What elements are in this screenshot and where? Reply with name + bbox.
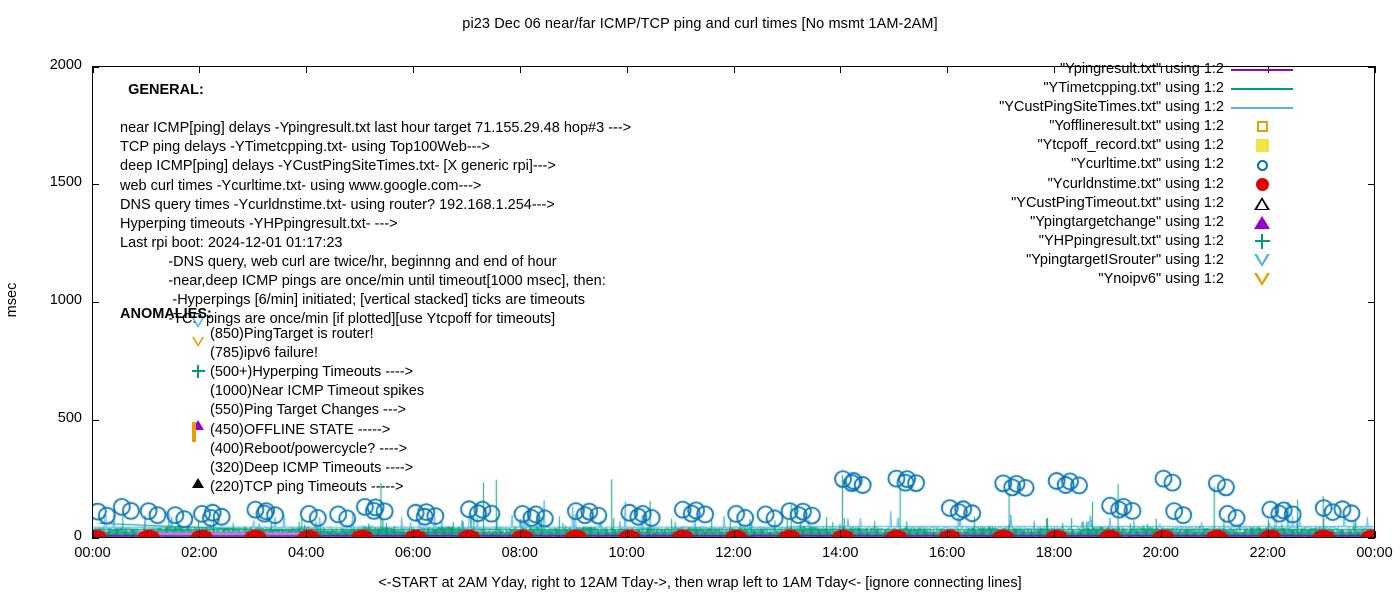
legend-label: "YCustPingSiteTimes.txt" using 1:2 <box>999 98 1224 117</box>
x-tick-mark <box>306 531 307 538</box>
legend-item[interactable]: "Ytcpoff_record.txt" using 1:2 <box>940 136 1300 155</box>
legend: "Ypingresult.txt" using 1:2"YTimetcpping… <box>940 60 1300 289</box>
anomaly-label: (1000)Near ICMP Timeout spikes <box>210 382 424 401</box>
x-tick-label: 12:00 <box>694 545 774 561</box>
y-axis-label: msec <box>4 270 20 330</box>
general-line: TCP ping delays -YTimetcpping.txt- using… <box>120 138 631 157</box>
anomaly-label: (220)TCP ping Timeouts -----> <box>210 478 404 497</box>
square-outline-icon <box>192 422 196 442</box>
general-line: -near,deep ICMP pings are once/min until… <box>120 272 631 291</box>
legend-label: "YHPpingresult.txt" using 1:2 <box>1039 232 1224 251</box>
x-tick-label: 20:00 <box>1121 545 1201 561</box>
legend-line-swatch <box>1231 69 1293 71</box>
legend-item[interactable]: "YCustPingSiteTimes.txt" using 1:2 <box>940 98 1300 117</box>
x-tick-label: 18:00 <box>1014 545 1094 561</box>
anomaly-label: (500+)Hyperping Timeouts ----> <box>210 363 413 382</box>
y-tick-label: 1500 <box>22 174 82 190</box>
anomaly-label: (450)OFFLINE STATE -----> <box>210 421 390 440</box>
square-filled-icon <box>1256 139 1269 152</box>
x-tick-label: 00:00 <box>1335 545 1400 561</box>
y-tick-label: 2000 <box>22 57 82 73</box>
x-tick-mark <box>520 531 521 538</box>
legend-key <box>1224 254 1300 267</box>
x-tick-label: 14:00 <box>800 545 880 561</box>
legend-key <box>1224 69 1300 71</box>
general-header: GENERAL: <box>128 82 204 98</box>
anomaly-row: (400)Reboot/powercycle? ----> <box>120 440 424 459</box>
triangle-up-icon <box>1254 197 1270 210</box>
y-tick-mark <box>92 302 99 303</box>
anomaly-label: (550)Ping Target Changes ---> <box>210 401 406 420</box>
y-tick-mark <box>1368 420 1375 421</box>
anomalies-header: ANOMALIES: <box>120 305 424 324</box>
x-tick-mark <box>1375 531 1376 538</box>
anomalies-annotation-block: ANOMALIES: (850)PingTarget is router!(78… <box>120 305 424 497</box>
x-tick-mark <box>1161 531 1162 538</box>
anomaly-label: (400)Reboot/powercycle? ----> <box>210 440 407 459</box>
x-axis-label: <-START at 2AM Yday, right to 12AM Tday-… <box>0 575 1400 591</box>
plus-icon <box>1255 234 1270 249</box>
x-tick-label: 02:00 <box>159 545 239 561</box>
triangle-up-filled-icon <box>1254 216 1270 229</box>
legend-item[interactable]: "YpingtargetISrouter" using 1:2 <box>940 251 1300 270</box>
legend-label: "YpingtargetISrouter" using 1:2 <box>1026 251 1224 270</box>
legend-label: "Yofflineresult.txt" using 1:2 <box>1049 117 1224 136</box>
legend-item[interactable]: "YCustPingTimeout.txt" using 1:2 <box>940 194 1300 213</box>
x-tick-mark <box>627 531 628 538</box>
legend-item[interactable]: "Ypingresult.txt" using 1:2 <box>940 60 1300 79</box>
legend-key <box>1224 234 1300 249</box>
legend-key <box>1224 107 1300 109</box>
x-tick-label: 04:00 <box>266 545 346 561</box>
x-tick-mark <box>93 531 94 538</box>
legend-label: "Ytcpoff_record.txt" using 1:2 <box>1037 136 1224 155</box>
x-tick-mark <box>93 66 94 73</box>
general-line: deep ICMP[ping] delays -YCustPingSiteTim… <box>120 157 631 176</box>
triangle-down-icon <box>1254 254 1270 267</box>
legend-label: "Ycurldnstime.txt" using 1:2 <box>1048 175 1224 194</box>
legend-key <box>1224 216 1300 229</box>
general-line: Last rpi boot: 2024-12-01 01:17:23 <box>120 234 631 253</box>
x-tick-label: 10:00 <box>587 545 667 561</box>
x-tick-mark <box>734 66 735 73</box>
legend-item[interactable]: "YTimetcpping.txt" using 1:2 <box>940 79 1300 98</box>
anomaly-row: (220)TCP ping Timeouts -----> <box>120 478 424 497</box>
anomaly-row: (785)ipv6 failure! <box>120 344 424 363</box>
legend-key <box>1224 88 1300 90</box>
general-lines: near ICMP[ping] delays -Ypingresult.txt … <box>120 119 631 329</box>
chart-title: pi23 Dec 06 near/far ICMP/TCP ping and c… <box>0 16 1400 32</box>
x-tick-mark <box>734 531 735 538</box>
anomaly-label: (850)PingTarget is router! <box>210 325 374 344</box>
x-tick-label: 00:00 <box>53 545 133 561</box>
x-tick-mark <box>840 531 841 538</box>
legend-item[interactable]: "Ypingtargetchange" using 1:2 <box>940 213 1300 232</box>
general-line: Hyperping timeouts -YHPpingresult.txt- -… <box>120 215 631 234</box>
x-tick-mark <box>199 531 200 538</box>
x-tick-mark <box>1268 531 1269 538</box>
legend-label: "Ypingresult.txt" using 1:2 <box>1060 60 1224 79</box>
legend-label: "Ypingtargetchange" using 1:2 <box>1030 213 1224 232</box>
legend-line-swatch <box>1231 107 1293 109</box>
x-tick-mark <box>413 531 414 538</box>
y-tick-label: 500 <box>22 410 82 426</box>
anomaly-row: (320)Deep ICMP Timeouts ----> <box>120 459 424 478</box>
legend-item[interactable]: "Ycurldnstime.txt" using 1:2 <box>940 175 1300 194</box>
x-tick-label: 16:00 <box>907 545 987 561</box>
y-tick-mark <box>1368 184 1375 185</box>
legend-label: "YTimetcpping.txt" using 1:2 <box>1043 79 1224 98</box>
legend-line-swatch <box>1231 88 1293 90</box>
legend-key <box>1224 197 1300 210</box>
x-tick-mark <box>1054 531 1055 538</box>
legend-key <box>1224 178 1300 191</box>
legend-label: "Ynoipv6" using 1:2 <box>1098 270 1224 289</box>
anomaly-row: (500+)Hyperping Timeouts ----> <box>120 363 424 382</box>
y-tick-label: 0 <box>22 528 82 544</box>
anomalies-list: (850)PingTarget is router!(785)ipv6 fail… <box>120 325 424 497</box>
x-tick-label: 08:00 <box>480 545 560 561</box>
x-tick-mark <box>840 66 841 73</box>
general-line: near ICMP[ping] delays -Ypingresult.txt … <box>120 119 631 138</box>
x-tick-mark <box>1375 66 1376 73</box>
triangle-down-icon <box>192 337 204 363</box>
anomaly-label: (785)ipv6 failure! <box>210 344 318 363</box>
x-tick-label: 06:00 <box>373 545 453 561</box>
legend-label: "Ycurltime.txt" using 1:2 <box>1071 155 1224 174</box>
y-tick-mark <box>92 184 99 185</box>
x-tick-label: 22:00 <box>1228 545 1308 561</box>
legend-item[interactable]: "Yofflineresult.txt" using 1:2 <box>940 117 1300 136</box>
y-tick-mark <box>1368 302 1375 303</box>
y-tick-mark <box>92 420 99 421</box>
legend-item[interactable]: "Ynoipv6" using 1:2 <box>940 270 1300 289</box>
anomaly-label: (320)Deep ICMP Timeouts ----> <box>210 459 413 478</box>
general-line: web curl times -Ycurltime.txt- using www… <box>120 177 631 196</box>
circle-filled-icon <box>1256 178 1269 191</box>
circle-outline-icon <box>1257 160 1268 171</box>
anomaly-row: (1000)Near ICMP Timeout spikes <box>120 382 424 401</box>
triangle-down-icon <box>1254 273 1270 286</box>
legend-label: "YCustPingTimeout.txt" using 1:2 <box>1011 194 1224 213</box>
legend-key <box>1224 160 1300 171</box>
legend-key <box>1224 273 1300 286</box>
x-tick-mark <box>947 531 948 538</box>
legend-item[interactable]: "YHPpingresult.txt" using 1:2 <box>940 232 1300 251</box>
legend-key <box>1224 121 1300 132</box>
anomaly-row: (850)PingTarget is router! <box>120 325 424 344</box>
square-outline-icon <box>1257 121 1268 132</box>
legend-key <box>1224 139 1300 152</box>
anomaly-row: (450)OFFLINE STATE -----> <box>120 421 424 440</box>
general-line: DNS query times -Ycurldnstime.txt- using… <box>120 196 631 215</box>
general-line: -DNS query, web curl are twice/hr, begin… <box>120 253 631 272</box>
y-tick-label: 1000 <box>22 292 82 308</box>
anomaly-row: (550)Ping Target Changes ---> <box>120 401 424 420</box>
legend-item[interactable]: "Ycurltime.txt" using 1:2 <box>940 155 1300 174</box>
